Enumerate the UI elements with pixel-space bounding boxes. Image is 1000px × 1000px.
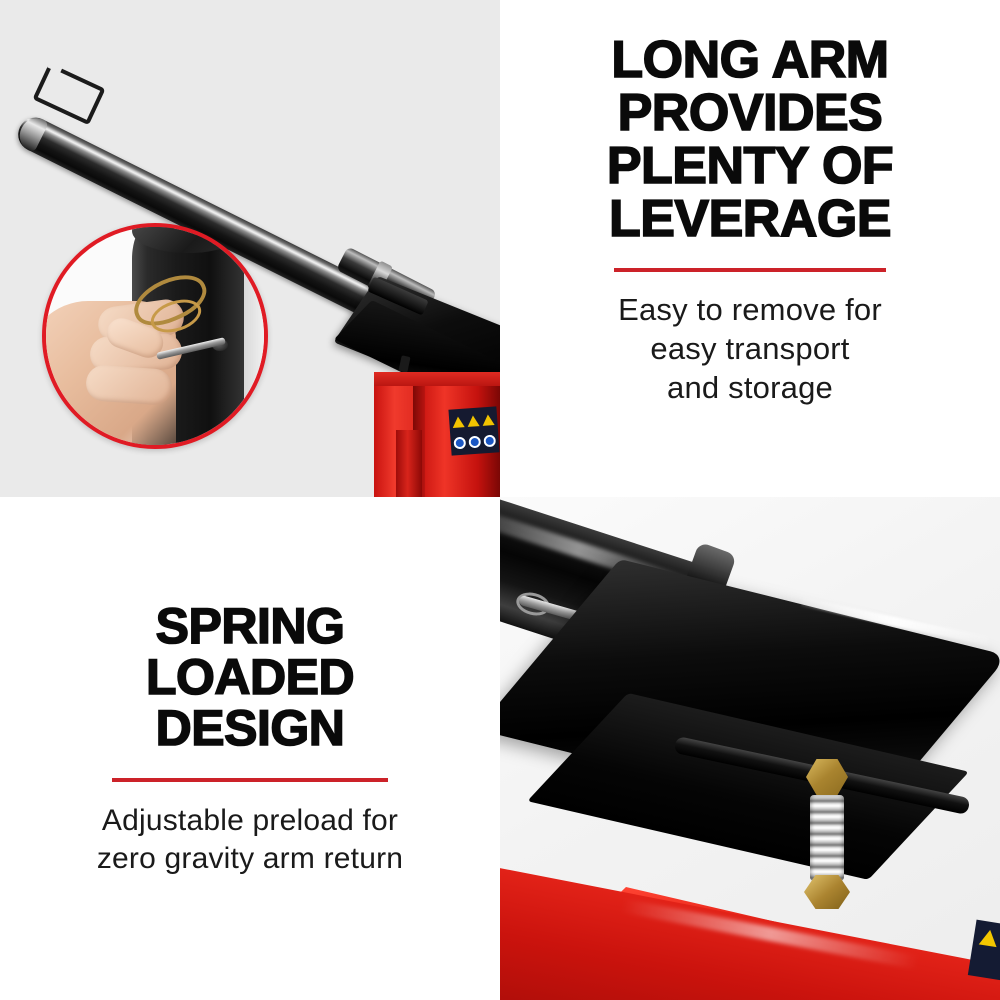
long-arm-subtext: Easy to remove for easy transport and st…: [618, 290, 882, 407]
panel-spring-text: SPRING LOADED DESIGN Adjustable preload …: [0, 497, 500, 1000]
headline-line: LONG ARM: [607, 34, 893, 87]
long-arm-photo-background: [0, 0, 500, 497]
subtext-line: easy transport: [618, 329, 882, 368]
spring-subtext: Adjustable preload for zero gravity arm …: [97, 802, 403, 878]
subtext-line: and storage: [618, 368, 882, 407]
panel-long-arm-text: LONG ARM PROVIDES PLENTY OF LEVERAGE Eas…: [500, 0, 1000, 497]
spring-divider-rule: [112, 778, 388, 782]
safety-warning-decal: [448, 406, 499, 455]
spring-headline: SPRING LOADED DESIGN: [146, 601, 354, 754]
safety-warning-decal-edge: [968, 920, 1000, 981]
headline-line: DESIGN: [146, 703, 354, 754]
spring-photo-background: [500, 497, 1000, 1000]
headline-line: LEVERAGE: [607, 193, 893, 246]
headline-line: PLENTY OF: [607, 140, 893, 193]
headline-line: LOADED: [146, 652, 354, 703]
ppe-goggles-icon: [453, 433, 467, 453]
base-leg: [396, 430, 422, 497]
long-arm-divider-rule: [614, 268, 886, 272]
panel-long-arm-photo: [0, 0, 500, 497]
subtext-line: Adjustable preload for: [97, 802, 403, 840]
coil-spring: [810, 795, 844, 881]
infographic-canvas: LONG ARM PROVIDES PLENTY OF LEVERAGE Eas…: [0, 0, 1000, 1000]
ppe-boots-icon: [482, 431, 496, 451]
closeup-inset-circle: [42, 223, 268, 449]
long-arm-headline: LONG ARM PROVIDES PLENTY OF LEVERAGE: [607, 34, 893, 246]
hazard-triangle-icon: [481, 410, 495, 430]
panel-spring-mechanism-photo: [500, 497, 1000, 1000]
ppe-gloves-icon: [468, 432, 482, 452]
headline-line: SPRING: [146, 601, 354, 652]
hazard-triangle-icon: [466, 411, 480, 431]
subtext-line: zero gravity arm return: [97, 840, 403, 878]
inset-finger: [85, 364, 173, 406]
subtext-line: Easy to remove for: [618, 290, 882, 329]
headline-line: PROVIDES: [607, 87, 893, 140]
hazard-triangle-icon: [452, 412, 466, 432]
grab-handle-loop: [32, 63, 105, 125]
